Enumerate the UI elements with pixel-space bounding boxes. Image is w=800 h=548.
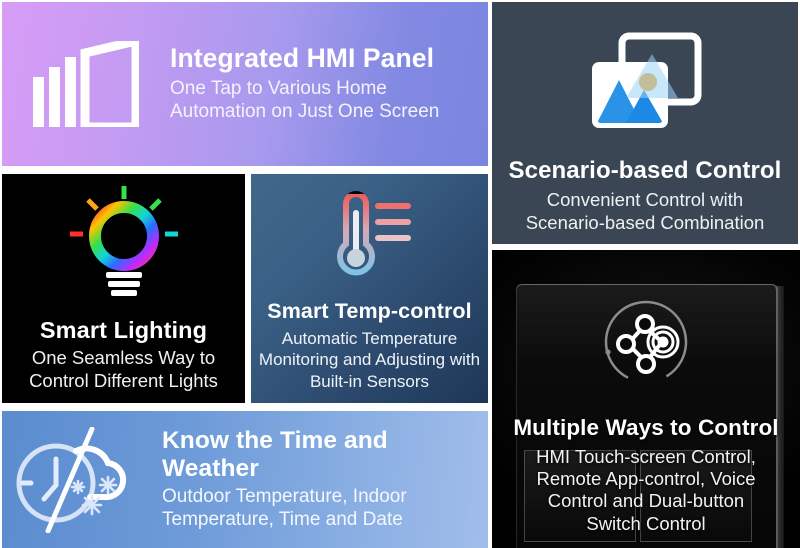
feature-grid: Integrated HMI Panel One Tap to Various … [0,0,800,548]
panel-multiple-ways-to-control[interactable]: Multiple Ways to Control HMI Touch-scree… [492,250,800,548]
panel-integrated-hmi[interactable]: Integrated HMI Panel One Tap to Various … [2,2,488,166]
lighting-subtitle: One Seamless Way to Control Different Li… [29,347,218,392]
hmi-text-block: Integrated HMI Panel One Tap to Various … [170,44,488,123]
ways-title: Multiple Ways to Control [513,415,778,441]
temp-title: Smart Temp-control [267,299,471,324]
weather-subtitle: Outdoor Temperature, Indoor Temperature,… [162,486,478,532]
panel-smart-lighting[interactable]: Smart Lighting One Seamless Way to Contr… [2,174,245,403]
scenario-subtitle: Convenient Control with Scenario-based C… [526,189,765,234]
thermometer-icon [318,188,422,287]
rainbow-bulb-icon [64,186,184,307]
panel-scenario-based-control[interactable]: Scenario-based Control Convenient Contro… [492,2,798,244]
scenario-title: Scenario-based Control [509,157,782,185]
panel-smart-temp-control[interactable]: Smart Temp-control Automatic Temperature… [251,174,488,403]
lighting-title: Smart Lighting [40,317,207,344]
clock-cloud-snow-icon [2,427,162,533]
weather-title: Know the Time and Weather [162,427,478,483]
hmi-subtitle: One Tap to Various Home Automation on Ju… [170,78,452,124]
panel-time-and-weather[interactable]: Know the Time and Weather Outdoor Temper… [2,411,488,548]
hmi-panel-bars-icon [2,41,170,127]
landscape-photos-icon [586,30,704,141]
weather-text-block: Know the Time and Weather Outdoor Temper… [162,427,488,532]
temp-subtitle: Automatic Temperature Monitoring and Adj… [255,328,484,392]
network-hub-icon [600,296,692,393]
hmi-title: Integrated HMI Panel [170,44,452,74]
ways-subtitle: HMI Touch-screen Control, Remote App-con… [536,446,756,535]
